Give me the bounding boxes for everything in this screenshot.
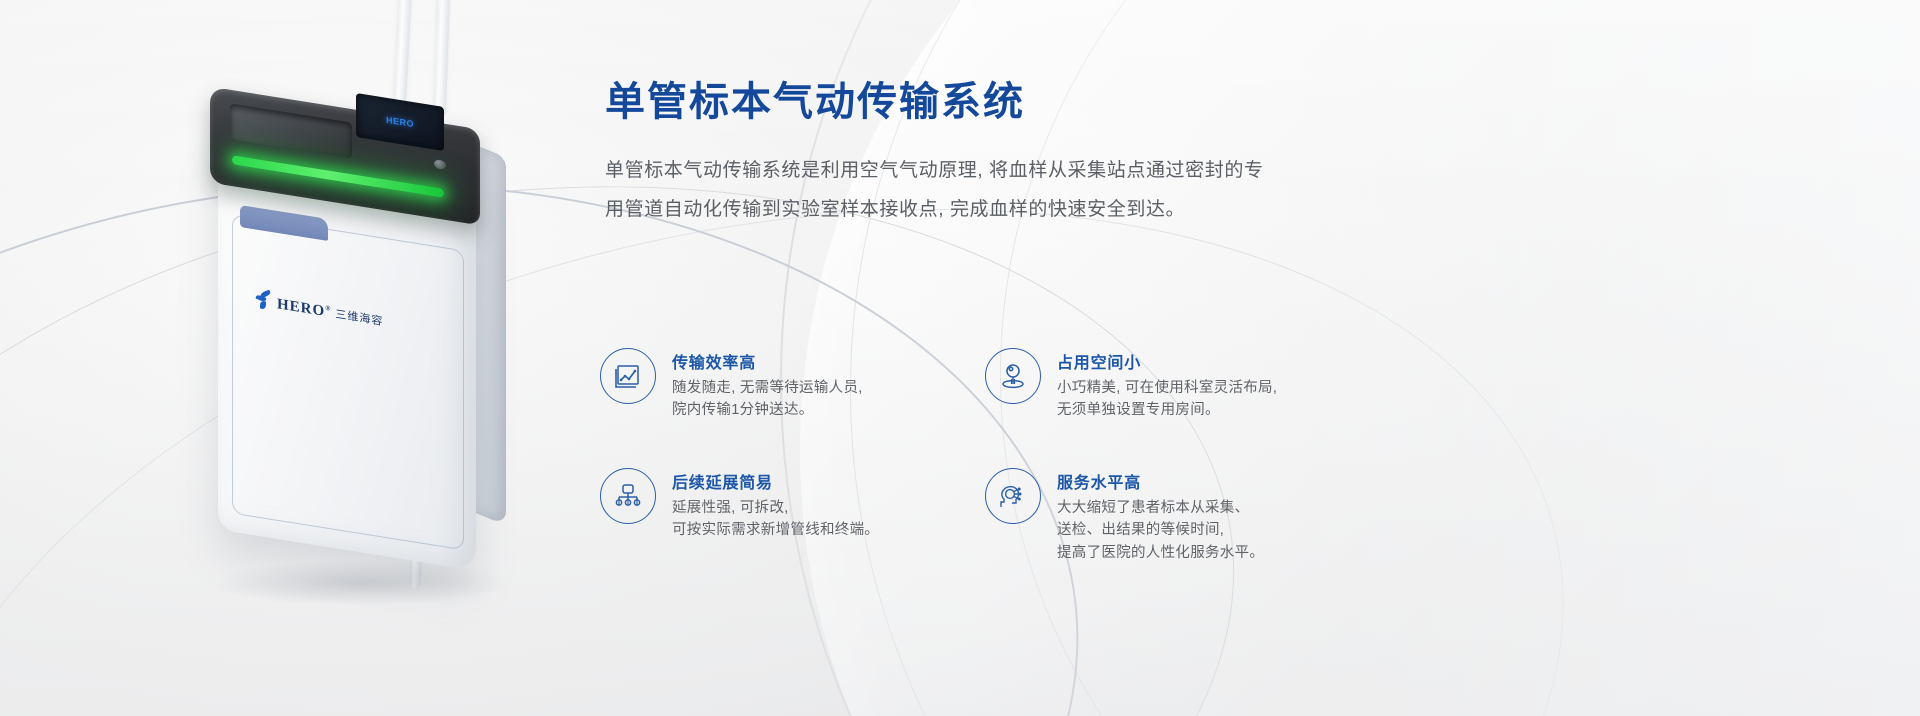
product-banner: HERO HERO® 三维海容 单管标本气动传输系统 单管标本气动传输系统是利用…	[0, 0, 1920, 716]
feature-list: 传输效率高 随发随走, 无需等待运输人员, 院内传输1分钟送达。 占用空间小 小…	[600, 348, 1290, 564]
feature-title: 占用空间小	[1057, 349, 1277, 373]
feature-item: 服务水平高 大大缩短了患者标本从采集、 送检、出结果的等候时间, 提高了医院的人…	[985, 468, 1290, 564]
feature-item: 传输效率高 随发随走, 无需等待运输人员, 院内传输1分钟送达。	[600, 348, 985, 422]
feature-text: 服务水平高 大大缩短了患者标本从采集、 送检、出结果的等候时间, 提高了医院的人…	[1057, 468, 1264, 564]
product-door-seam	[232, 214, 464, 551]
feature-text: 占用空间小 小巧精美, 可在使用科室灵活布局, 无须单独设置专用房间。	[1057, 348, 1277, 422]
hero-description: 单管标本气动传输系统是利用空气气动原理, 将血样从采集站点通过密封的专用管道自动…	[605, 152, 1265, 230]
feature-text: 传输效率高 随发随走, 无需等待运输人员, 院内传输1分钟送达。	[672, 348, 863, 422]
feature-title: 后续延展简易	[672, 469, 879, 493]
feature-description: 延展性强, 可拆改, 可按实际需求新增管线和终端。	[672, 497, 879, 542]
feature-title: 传输效率高	[672, 349, 863, 373]
product-image: HERO HERO® 三维海容	[170, 0, 590, 716]
feature-description: 随发随走, 无需等待运输人员, 院内传输1分钟送达。	[672, 377, 863, 422]
chart-icon	[600, 348, 656, 404]
smart-head-icon	[985, 468, 1041, 524]
feature-description: 小巧精美, 可在使用科室灵活布局, 无须单独设置专用房间。	[1057, 377, 1277, 422]
hero-mark-icon	[256, 290, 273, 312]
registered-mark: ®	[325, 304, 331, 313]
feature-item: 后续延展简易 延展性强, 可拆改, 可按实际需求新增管线和终端。	[600, 468, 985, 564]
product-shadow	[210, 560, 510, 606]
network-tree-icon	[600, 468, 656, 524]
hero-content: 单管标本气动传输系统 单管标本气动传输系统是利用空气气动原理, 将血样从采集站点…	[605, 78, 1305, 230]
feature-title: 服务水平高	[1057, 469, 1264, 493]
screen-logo-text: HERO	[386, 115, 414, 129]
feature-item: 占用空间小 小巧精美, 可在使用科室灵活布局, 无须单独设置专用房间。	[985, 348, 1290, 422]
pneumatic-tube-right	[433, 0, 450, 118]
feature-description: 大大缩短了患者标本从采集、 送检、出结果的等候时间, 提高了医院的人性化服务水平…	[1057, 497, 1264, 564]
feature-text: 后续延展简易 延展性强, 可拆改, 可按实际需求新增管线和终端。	[672, 468, 879, 542]
space-pin-icon	[985, 348, 1041, 404]
page-title: 单管标本气动传输系统	[605, 78, 1305, 126]
